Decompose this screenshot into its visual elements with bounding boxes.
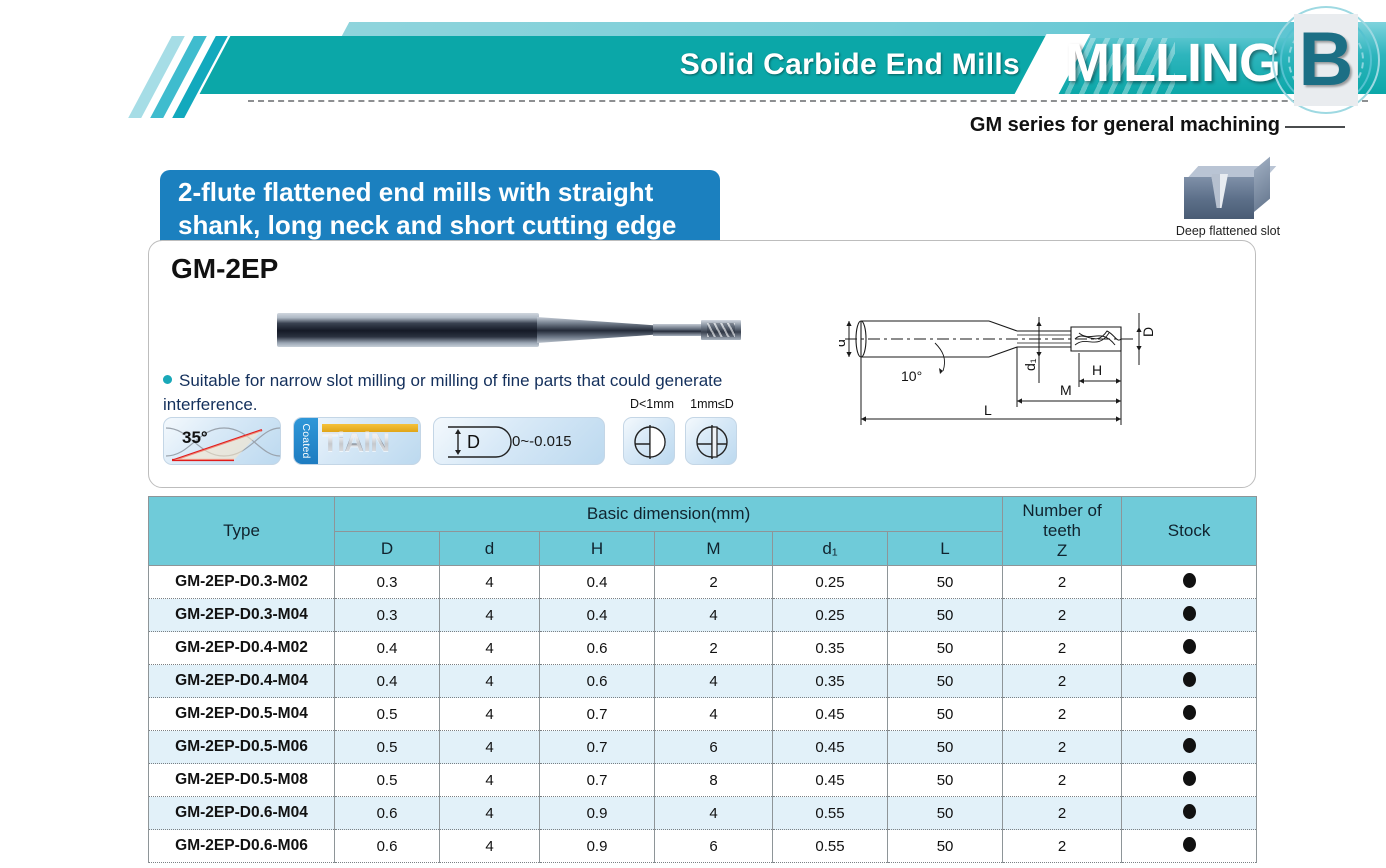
cell-type: GM-2EP-D0.4-M04 bbox=[149, 665, 335, 698]
table-row: GM-2EP-D0.3-M020.340.420.25502 bbox=[149, 566, 1257, 599]
cell-stock bbox=[1122, 566, 1257, 599]
cell-L: 50 bbox=[888, 599, 1003, 632]
cell-L: 50 bbox=[888, 797, 1003, 830]
cell-d: 4 bbox=[440, 731, 540, 764]
technical-drawing: d 10° d₁ D H M L bbox=[839, 291, 1239, 471]
end-mill-neck bbox=[653, 324, 703, 336]
catalog-page: Solid Carbide End Mills MILLING GM serie… bbox=[0, 0, 1386, 868]
table-header-row-1: Type Basic dimension(mm) Number of teeth… bbox=[149, 497, 1257, 532]
cell-D: 0.4 bbox=[335, 632, 440, 665]
tolerance-badge: D 0~-0.015 bbox=[433, 417, 605, 465]
cell-type: GM-2EP-D0.5-M08 bbox=[149, 764, 335, 797]
product-title-line2: shank, long neck and short cutting edge bbox=[178, 209, 702, 242]
cell-L: 50 bbox=[888, 731, 1003, 764]
bullet-dot-icon bbox=[163, 375, 172, 384]
cell-M: 6 bbox=[655, 830, 773, 863]
coating-name: TiAlN bbox=[322, 424, 418, 460]
cell-H: 0.9 bbox=[540, 797, 655, 830]
cell-Z: 2 bbox=[1003, 830, 1122, 863]
table-row: GM-2EP-D0.4-M020.440.620.35502 bbox=[149, 632, 1257, 665]
cell-M: 4 bbox=[655, 698, 773, 731]
cell-L: 50 bbox=[888, 764, 1003, 797]
slot-icon-label: Deep flattened slot bbox=[1148, 224, 1308, 238]
cross-section-2-label: 1mm≤D bbox=[681, 397, 743, 411]
product-title-box: 2-flute flattened end mills with straigh… bbox=[160, 170, 720, 242]
header-title: Solid Carbide End Mills bbox=[520, 44, 1020, 86]
stock-available-dot-icon bbox=[1183, 804, 1196, 819]
cell-M: 2 bbox=[655, 632, 773, 665]
cell-D: 0.6 bbox=[335, 830, 440, 863]
tolerance-value: 0~-0.015 bbox=[512, 433, 572, 450]
cell-d: 4 bbox=[440, 764, 540, 797]
spec-badge-row: 35° Coated TiAlN D 0~-0.015 D<1 bbox=[163, 417, 783, 467]
cell-type: GM-2EP-D0.4-M02 bbox=[149, 632, 335, 665]
dim-label-d: d bbox=[839, 339, 848, 347]
cell-Z: 2 bbox=[1003, 632, 1122, 665]
header-subtitle: GM series for general machining bbox=[620, 112, 1280, 138]
end-mill-taper bbox=[537, 317, 655, 343]
cross-section-2-badge bbox=[685, 417, 737, 465]
dim-label-angle: 10° bbox=[901, 368, 922, 384]
cell-D: 0.5 bbox=[335, 698, 440, 731]
stock-available-dot-icon bbox=[1183, 738, 1196, 753]
logo-letter: B bbox=[1294, 14, 1358, 106]
cell-Z: 2 bbox=[1003, 599, 1122, 632]
helix-angle-value: 35° bbox=[182, 428, 208, 448]
cell-stock bbox=[1122, 731, 1257, 764]
cell-Z: 2 bbox=[1003, 731, 1122, 764]
cell-L: 50 bbox=[888, 830, 1003, 863]
cell-M: 2 bbox=[655, 566, 773, 599]
flute-cross-section-small-icon bbox=[624, 418, 675, 465]
cell-d1: 0.35 bbox=[773, 665, 888, 698]
slot-block-shape bbox=[1184, 166, 1270, 220]
end-mill-flutes bbox=[707, 323, 735, 337]
cell-d: 4 bbox=[440, 698, 540, 731]
col-header-L: L bbox=[888, 532, 1003, 566]
cross-section-1-label: D<1mm bbox=[623, 397, 681, 411]
end-mill-shank bbox=[277, 313, 539, 347]
cell-D: 0.5 bbox=[335, 764, 440, 797]
cell-H: 0.6 bbox=[540, 665, 655, 698]
section-letter-logo: B bbox=[1268, 2, 1386, 128]
end-mill-dimension-diagram: d 10° d₁ D H M L bbox=[839, 291, 1239, 471]
cell-d: 4 bbox=[440, 599, 540, 632]
col-header-d1: d₁ bbox=[773, 532, 888, 566]
cell-H: 0.4 bbox=[540, 599, 655, 632]
cell-stock bbox=[1122, 764, 1257, 797]
col-header-teeth-line2: teeth bbox=[1005, 521, 1119, 541]
col-header-d: d bbox=[440, 532, 540, 566]
cell-Z: 2 bbox=[1003, 665, 1122, 698]
deep-flattened-slot-icon: Deep flattened slot bbox=[1148, 166, 1308, 250]
specification-table: Type Basic dimension(mm) Number of teeth… bbox=[148, 496, 1256, 863]
cell-stock bbox=[1122, 797, 1257, 830]
cell-Z: 2 bbox=[1003, 566, 1122, 599]
table-row: GM-2EP-D0.6-M040.640.940.55502 bbox=[149, 797, 1257, 830]
stock-available-dot-icon bbox=[1183, 705, 1196, 720]
cell-L: 50 bbox=[888, 665, 1003, 698]
col-header-teeth-line3: Z bbox=[1005, 541, 1119, 561]
cell-Z: 2 bbox=[1003, 698, 1122, 731]
cell-D: 0.6 bbox=[335, 797, 440, 830]
stock-available-dot-icon bbox=[1183, 606, 1196, 621]
cell-d1: 0.45 bbox=[773, 698, 888, 731]
dim-label-d1: d₁ bbox=[1022, 358, 1038, 371]
cell-stock bbox=[1122, 830, 1257, 863]
cell-D: 0.4 bbox=[335, 665, 440, 698]
cell-M: 4 bbox=[655, 599, 773, 632]
cell-d1: 0.45 bbox=[773, 764, 888, 797]
cross-section-1-badge bbox=[623, 417, 675, 465]
cell-L: 50 bbox=[888, 566, 1003, 599]
cell-H: 0.6 bbox=[540, 632, 655, 665]
table-head: Type Basic dimension(mm) Number of teeth… bbox=[149, 497, 1257, 566]
cell-d: 4 bbox=[440, 665, 540, 698]
cell-M: 8 bbox=[655, 764, 773, 797]
cell-D: 0.3 bbox=[335, 599, 440, 632]
col-header-M: M bbox=[655, 532, 773, 566]
spec-table: Type Basic dimension(mm) Number of teeth… bbox=[148, 496, 1257, 863]
stock-available-dot-icon bbox=[1183, 639, 1196, 654]
header-milling-word: MILLING bbox=[1065, 30, 1295, 96]
cell-d1: 0.25 bbox=[773, 599, 888, 632]
cell-d1: 0.35 bbox=[773, 632, 888, 665]
stock-available-dot-icon bbox=[1183, 672, 1196, 687]
cell-d1: 0.45 bbox=[773, 731, 888, 764]
cell-H: 0.7 bbox=[540, 764, 655, 797]
stock-available-dot-icon bbox=[1183, 771, 1196, 786]
table-row: GM-2EP-D0.4-M040.440.640.35502 bbox=[149, 665, 1257, 698]
cell-type: GM-2EP-D0.5-M06 bbox=[149, 731, 335, 764]
col-header-teeth-line1: Number of bbox=[1005, 501, 1119, 521]
coating-badge: Coated TiAlN bbox=[293, 417, 421, 465]
dim-label-H: H bbox=[1092, 362, 1102, 378]
helix-angle-badge: 35° bbox=[163, 417, 281, 465]
header-dotted-divider bbox=[248, 100, 1368, 102]
cell-stock bbox=[1122, 698, 1257, 731]
cell-d1: 0.55 bbox=[773, 797, 888, 830]
col-header-stock: Stock bbox=[1122, 497, 1257, 566]
cell-M: 6 bbox=[655, 731, 773, 764]
cell-D: 0.5 bbox=[335, 731, 440, 764]
cell-D: 0.3 bbox=[335, 566, 440, 599]
dim-label-L: L bbox=[984, 402, 992, 418]
cell-d: 4 bbox=[440, 797, 540, 830]
coated-label: Coated bbox=[300, 417, 312, 465]
stock-available-dot-icon bbox=[1183, 837, 1196, 852]
cell-d: 4 bbox=[440, 566, 540, 599]
col-header-teeth: Number of teeth Z bbox=[1003, 497, 1122, 566]
cell-H: 0.4 bbox=[540, 566, 655, 599]
end-mill-photo bbox=[277, 307, 741, 351]
table-row: GM-2EP-D0.5-M080.540.780.45502 bbox=[149, 764, 1257, 797]
product-code: GM-2EP bbox=[171, 253, 278, 285]
cell-L: 50 bbox=[888, 698, 1003, 731]
table-row: GM-2EP-D0.5-M060.540.760.45502 bbox=[149, 731, 1257, 764]
cell-L: 50 bbox=[888, 632, 1003, 665]
cell-H: 0.9 bbox=[540, 830, 655, 863]
col-header-D: D bbox=[335, 532, 440, 566]
table-row: GM-2EP-D0.6-M060.640.960.55502 bbox=[149, 830, 1257, 863]
coated-tab: Coated bbox=[294, 418, 318, 465]
col-header-type: Type bbox=[149, 497, 335, 566]
product-title-line1: 2-flute flattened end mills with straigh… bbox=[178, 176, 702, 209]
flute-cross-section-large-icon bbox=[686, 418, 737, 465]
cell-d: 4 bbox=[440, 632, 540, 665]
table-row: GM-2EP-D0.5-M040.540.740.45502 bbox=[149, 698, 1257, 731]
cell-H: 0.7 bbox=[540, 731, 655, 764]
cell-d1: 0.55 bbox=[773, 830, 888, 863]
cell-type: GM-2EP-D0.3-M02 bbox=[149, 566, 335, 599]
product-card: GM-2EP Suitable for narrow slot milling … bbox=[148, 240, 1256, 488]
cell-type: GM-2EP-D0.5-M04 bbox=[149, 698, 335, 731]
cell-Z: 2 bbox=[1003, 764, 1122, 797]
page-header: Solid Carbide End Mills MILLING GM serie… bbox=[0, 0, 1386, 150]
svg-text:D: D bbox=[467, 432, 480, 452]
cell-type: GM-2EP-D0.3-M04 bbox=[149, 599, 335, 632]
cell-M: 4 bbox=[655, 665, 773, 698]
cell-d: 4 bbox=[440, 830, 540, 863]
dim-label-M: M bbox=[1060, 382, 1072, 398]
cell-stock bbox=[1122, 665, 1257, 698]
dim-label-D: D bbox=[1140, 327, 1156, 337]
col-header-H: H bbox=[540, 532, 655, 566]
cell-type: GM-2EP-D0.6-M06 bbox=[149, 830, 335, 863]
slot-side-face bbox=[1254, 157, 1270, 212]
cell-type: GM-2EP-D0.6-M04 bbox=[149, 797, 335, 830]
col-header-basic-dimension: Basic dimension(mm) bbox=[335, 497, 1003, 532]
stock-available-dot-icon bbox=[1183, 573, 1196, 588]
cell-stock bbox=[1122, 599, 1257, 632]
cell-d1: 0.25 bbox=[773, 566, 888, 599]
cell-stock bbox=[1122, 632, 1257, 665]
cell-Z: 2 bbox=[1003, 797, 1122, 830]
cell-M: 4 bbox=[655, 797, 773, 830]
table-body: GM-2EP-D0.3-M020.340.420.25502GM-2EP-D0.… bbox=[149, 566, 1257, 863]
table-row: GM-2EP-D0.3-M040.340.440.25502 bbox=[149, 599, 1257, 632]
cell-H: 0.7 bbox=[540, 698, 655, 731]
